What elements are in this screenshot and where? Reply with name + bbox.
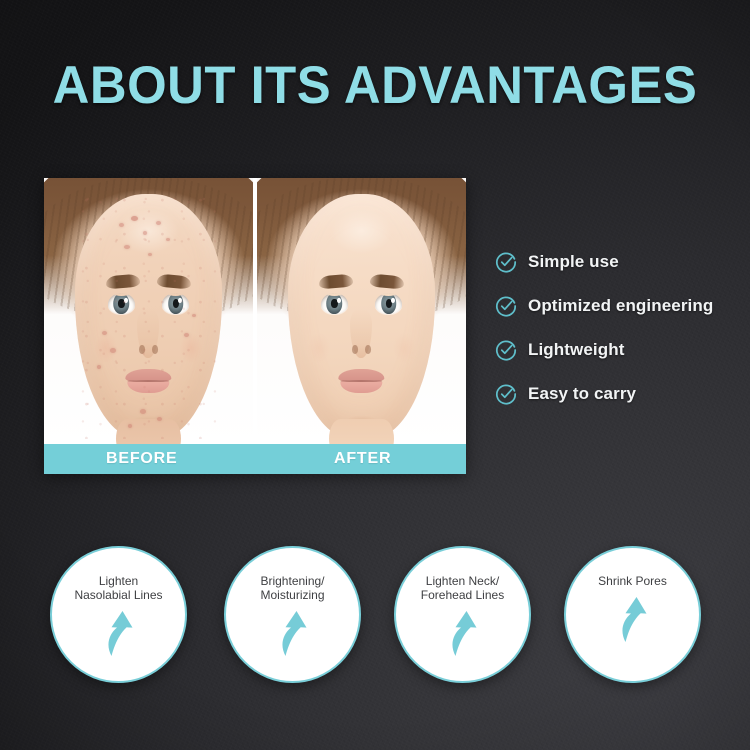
before-after-caption-bar: BEFORE AFTER: [44, 444, 466, 474]
benefit-circle: Lighten Neck/ Forehead Lines: [394, 546, 531, 683]
lips: [339, 369, 384, 393]
benefit-label: Lighten Neck/ Forehead Lines: [401, 574, 525, 602]
eye-right: [375, 293, 403, 314]
neck: [329, 419, 393, 444]
nostril-right: [365, 345, 371, 353]
eye-glint-left: [337, 298, 341, 303]
face-shape: [75, 194, 221, 439]
benefit-label: Brightening/ Moisturizing: [231, 574, 355, 602]
blemish: [131, 216, 138, 221]
feature-label: Lightweight: [528, 340, 624, 360]
feature-label: Optimized engineering: [528, 296, 713, 316]
lip-line: [340, 380, 383, 382]
benefit-circle: Shrink Pores: [564, 546, 701, 683]
after-photo: [257, 178, 466, 444]
curved-up-arrow-icon: [612, 594, 654, 644]
before-label: BEFORE: [106, 450, 177, 468]
check-circle-icon: [495, 295, 517, 317]
cheek-right: [388, 326, 420, 370]
benefit-circle-list: Lighten Nasolabial Lines Brightening/ Mo…: [0, 546, 750, 686]
eyelid-right: [375, 293, 403, 296]
forehead-highlight: [318, 204, 406, 258]
upper-lip: [339, 369, 384, 381]
feature-item: Simple use: [495, 240, 745, 284]
eyebrow-left: [319, 273, 354, 289]
advantages-page: ABOUT ITS ADVANTAGES: [0, 0, 750, 750]
skin-blemishes: [75, 194, 221, 439]
benefit-label: Lighten Nasolabial Lines: [57, 574, 181, 602]
before-after-panel: BEFORE AFTER: [44, 178, 466, 474]
feature-item: Easy to carry: [495, 372, 745, 416]
after-face-illustration: [257, 178, 466, 444]
feature-label: Simple use: [528, 252, 619, 272]
curved-up-arrow-icon: [98, 608, 140, 658]
feature-item: Optimized engineering: [495, 284, 745, 328]
blemish: [102, 331, 107, 335]
before-face-illustration: [44, 178, 253, 444]
nostril-left: [352, 345, 358, 353]
blemish: [128, 424, 132, 428]
skin-texture: [75, 194, 221, 439]
before-photo: [44, 178, 253, 444]
after-label: AFTER: [334, 450, 391, 468]
check-circle-icon: [495, 383, 517, 405]
benefit-circle: Brightening/ Moisturizing: [224, 546, 361, 683]
feature-label: Easy to carry: [528, 384, 636, 404]
eyebrow-right: [370, 273, 405, 289]
feature-item: Lightweight: [495, 328, 745, 372]
blemish: [157, 417, 162, 421]
benefit-circle: Lighten Nasolabial Lines: [50, 546, 187, 683]
feature-list: Simple use Optimized engineering Lightwe…: [495, 240, 745, 416]
cheek-left: [303, 326, 335, 370]
page-title: ABOUT ITS ADVANTAGES: [15, 56, 735, 116]
curved-up-arrow-icon: [272, 608, 314, 658]
face-shape: [288, 194, 434, 439]
blemish: [143, 231, 147, 235]
eye-left: [321, 293, 349, 314]
check-circle-icon: [495, 339, 517, 361]
check-circle-icon: [495, 251, 517, 273]
nose: [351, 309, 373, 358]
benefit-label: Shrink Pores: [571, 574, 695, 588]
before-after-photos: [44, 178, 466, 444]
curved-up-arrow-icon: [442, 608, 484, 658]
eyelid-left: [321, 293, 349, 296]
blemish: [156, 221, 161, 225]
